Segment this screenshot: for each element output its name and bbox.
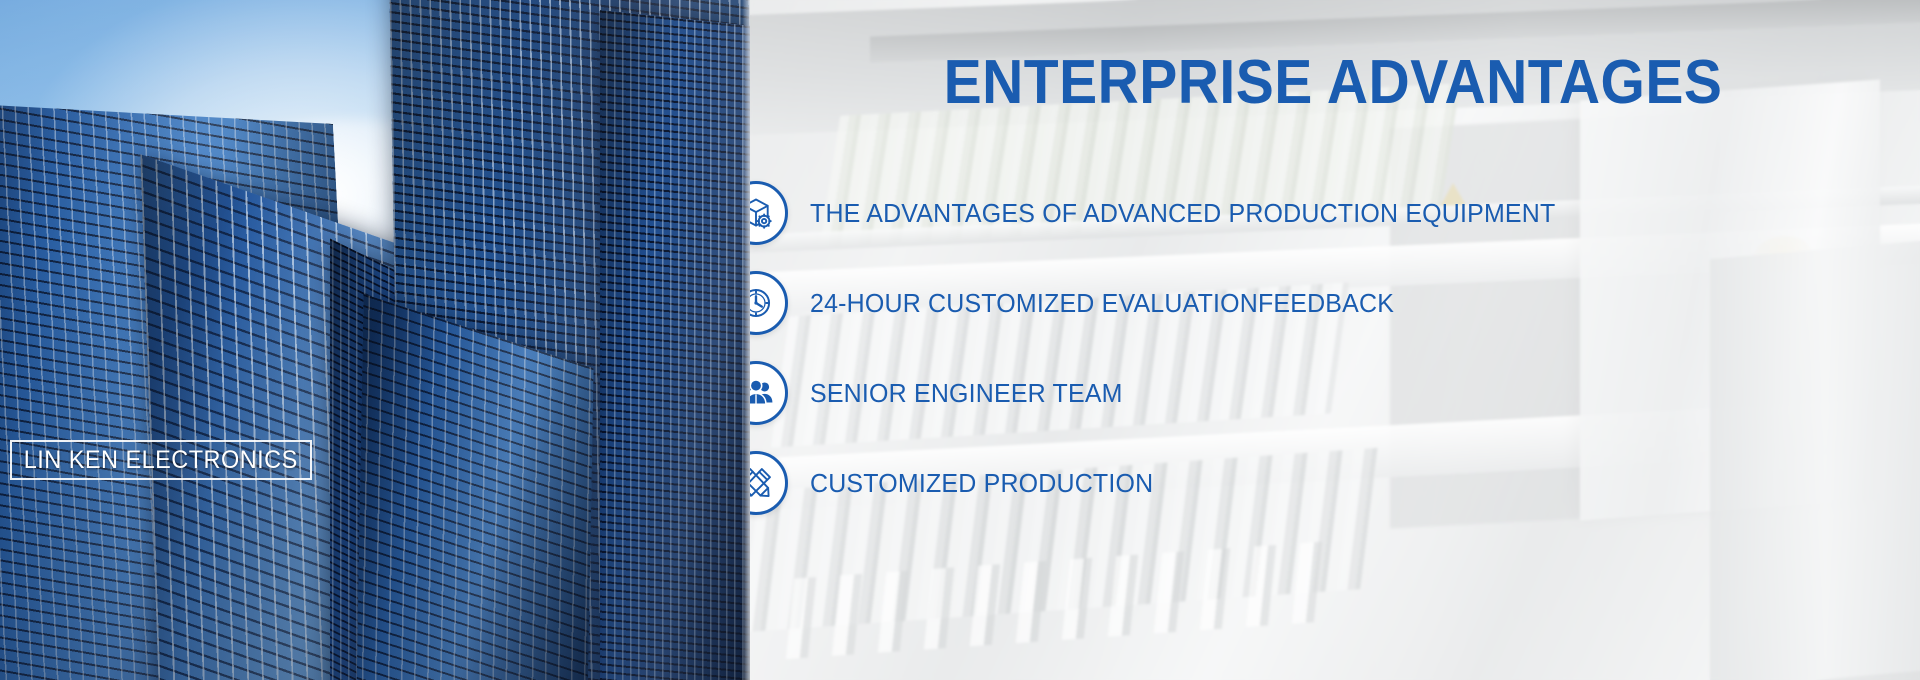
enterprise-advantages-banner: LIN KEN ELECTRONICS ENTERPRISE ADVANTAGE… (0, 0, 1920, 680)
skyscraper-tower (600, 10, 750, 680)
feature-item-customized-production[interactable]: CUSTOMIZED PRODUCTION (750, 438, 1920, 528)
clock-icon (750, 271, 788, 335)
box-gear-icon (750, 181, 788, 245)
pencil-ruler-icon (750, 451, 788, 515)
feature-label: 24-HOUR CUSTOMIZED EVALUATIONFEEDBACK (810, 288, 1394, 319)
machine-photo-panel: ENTERPRISE ADVANTAGES THE (750, 0, 1920, 680)
team-people-icon (750, 361, 788, 425)
page-title: ENTERPRISE ADVANTAGES (850, 52, 1816, 114)
feature-label: THE ADVANTAGES OF ADVANCED PRODUCTION EQ… (810, 198, 1555, 229)
company-name-text: LIN KEN ELECTRONICS (24, 446, 298, 475)
tower-shading (600, 10, 750, 680)
company-logo-plate: LIN KEN ELECTRONICS (10, 440, 312, 480)
feature-item-24-hour-feedback[interactable]: 24-HOUR CUSTOMIZED EVALUATIONFEEDBACK (750, 258, 1920, 348)
feature-label: CUSTOMIZED PRODUCTION (810, 468, 1153, 499)
feature-label: SENIOR ENGINEER TEAM (810, 378, 1123, 409)
feature-item-production-equipment[interactable]: THE ADVANTAGES OF ADVANCED PRODUCTION EQ… (750, 168, 1920, 258)
skyscraper-photo-panel: LIN KEN ELECTRONICS (0, 0, 750, 680)
feature-item-engineer-team[interactable]: SENIOR ENGINEER TEAM (750, 348, 1920, 438)
feature-list: THE ADVANTAGES OF ADVANCED PRODUCTION EQ… (750, 168, 1920, 528)
banner-content: ENTERPRISE ADVANTAGES THE (750, 0, 1920, 680)
